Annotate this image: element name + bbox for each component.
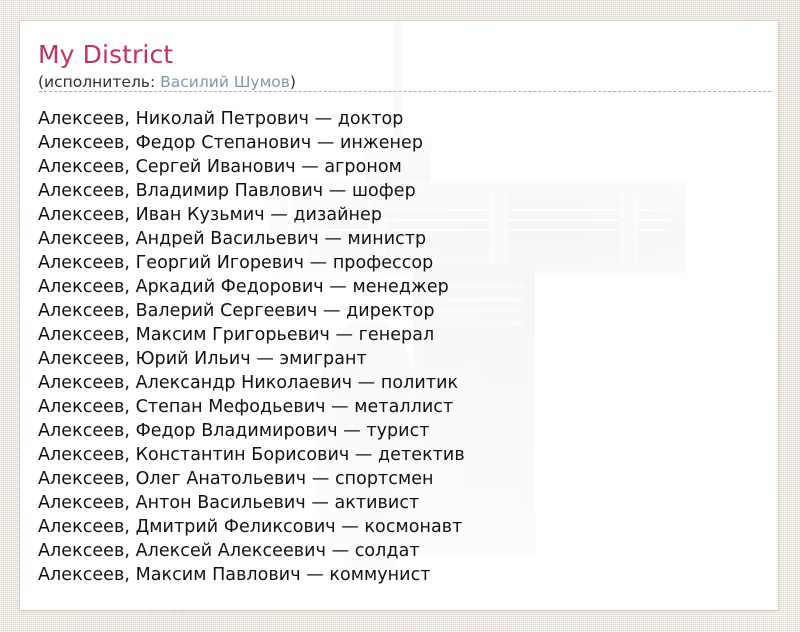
- list-item: Алексеев, Николай Петрович — доктор: [38, 107, 768, 131]
- list-item: Алексеев, Федор Владимирович — турист: [38, 419, 768, 443]
- list-item: Алексеев, Сергей Иванович — агроном: [38, 155, 768, 179]
- list-item: Алексеев, Олег Анатольевич — спортсмен: [38, 467, 768, 491]
- list-item: Алексеев, Федор Степанович — инженер: [38, 131, 768, 155]
- list-item: Алексеев, Александр Николаевич — политик: [38, 371, 768, 395]
- list-item: Алексеев, Максим Григорьевич — генерал: [38, 323, 768, 347]
- list-item: Алексеев, Максим Павлович — коммунист: [38, 563, 768, 587]
- list-item: Алексеев, Антон Васильевич — активист: [38, 491, 768, 515]
- list-item: Алексеев, Аркадий Федорович — менеджер: [38, 275, 768, 299]
- subtitle-prefix: (исполнитель:: [38, 73, 160, 91]
- list-item: Алексеев, Степан Мефодьевич — металлист: [38, 395, 768, 419]
- subtitle-suffix: ): [290, 73, 296, 91]
- entry-list: Алексеев, Николай Петрович — докторАлекс…: [38, 107, 768, 587]
- list-item: Алексеев, Дмитрий Феликсович — космонавт: [38, 515, 768, 539]
- list-item: Алексеев, Иван Кузьмич — дизайнер: [38, 203, 768, 227]
- list-item: Алексеев, Константин Борисович — детекти…: [38, 443, 768, 467]
- list-item: Алексеев, Алексей Алексеевич — солдат: [38, 539, 768, 563]
- list-item: Алексеев, Георгий Игоревич — профессор: [38, 251, 768, 275]
- title-divider-rule: [39, 91, 771, 92]
- list-item: Алексеев, Валерий Сергеевич — директор: [38, 299, 768, 323]
- list-item: Алексеев, Юрий Ильич — эмигрант: [38, 347, 768, 371]
- slide-outer-frame: My District (исполнитель: Василий Шумов)…: [0, 0, 800, 632]
- slide-canvas: My District (исполнитель: Василий Шумов)…: [20, 21, 778, 610]
- list-item: Алексеев, Андрей Васильевич — министр: [38, 227, 768, 251]
- title-block: My District (исполнитель: Василий Шумов): [38, 40, 770, 92]
- subtitle: (исполнитель: Василий Шумов): [38, 73, 770, 92]
- artist-link[interactable]: Василий Шумов: [160, 73, 290, 91]
- page-title: My District: [38, 40, 770, 70]
- list-item: Алексеев, Владимир Павлович — шофер: [38, 179, 768, 203]
